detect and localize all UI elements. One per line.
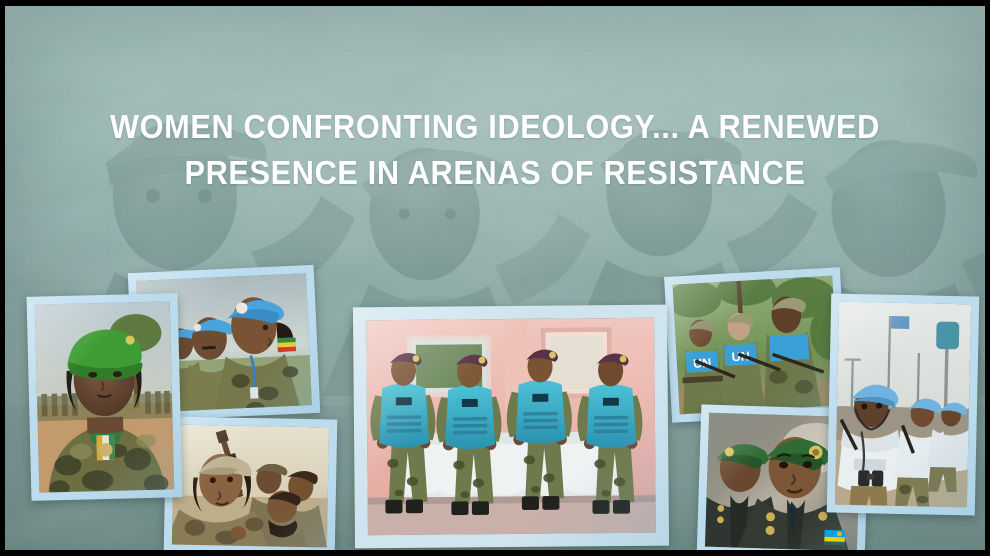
photo-female-officer-beret: [27, 293, 183, 501]
photo-resistance-fighters: [164, 416, 338, 550]
photo-armored-squad: [353, 305, 669, 549]
photo-un-patrol-road: [827, 293, 980, 515]
artboard: WOMEN CONFRONTING IDEOLOGY... A RENEWED …: [5, 6, 985, 550]
photo-un-patrol-jungle-image: UN UN: [672, 276, 839, 415]
photo-armored-squad-image: [366, 318, 656, 536]
poster: WOMEN CONFRONTING IDEOLOGY... A RENEWED …: [0, 0, 990, 556]
photo-resistance-fighters-image: [172, 425, 329, 548]
title-line-1: WOMEN CONFRONTING IDEOLOGY... A RENEWED: [39, 104, 950, 150]
photo-un-patrol-road-image: [835, 302, 971, 508]
poster-title: WOMEN CONFRONTING IDEOLOGY... A RENEWED …: [5, 104, 985, 196]
photo-un-patrol-jungle: UN UN: [664, 267, 848, 423]
title-line-2: PRESENCE IN ARENAS OF RESISTANCE: [39, 150, 950, 196]
photo-female-officer-beret-image: [35, 301, 175, 492]
